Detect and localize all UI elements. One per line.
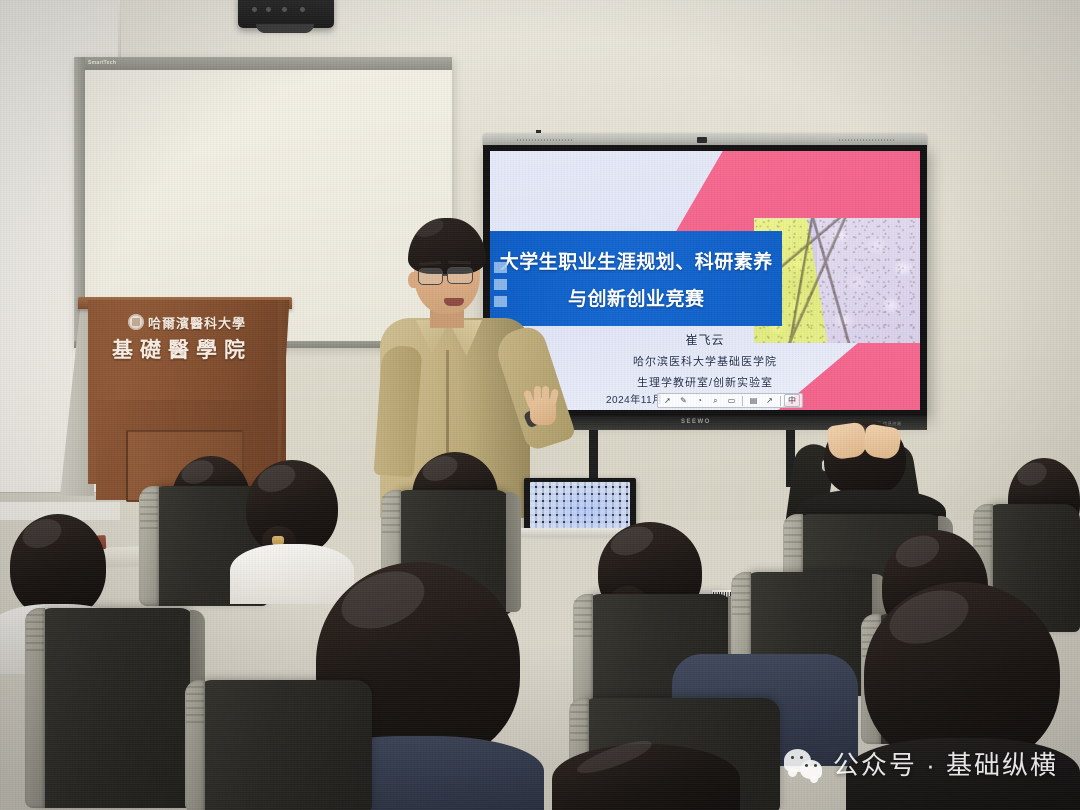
search-icon[interactable]: ⌕ bbox=[708, 394, 723, 407]
ceiling-mounted-device bbox=[238, 0, 334, 28]
whiteboard-frame-top bbox=[74, 57, 452, 70]
eyeglasses-bridge bbox=[442, 274, 448, 276]
slide-date: 2024年11月 bbox=[606, 391, 663, 406]
audience-shoulders bbox=[230, 544, 354, 604]
watermark-text: 公众号 · 基础纵横 bbox=[833, 745, 1058, 782]
seat bbox=[196, 680, 372, 810]
presenter-mouth bbox=[444, 298, 464, 306]
eyeglasses-lens-right bbox=[447, 267, 473, 284]
slide-annotation-toolbar[interactable]: ➚ ✎ ◔ ⌕ ▭ ▤ ↗ 中 bbox=[657, 393, 803, 408]
eyeglasses-lens-left bbox=[418, 268, 443, 285]
display-camera-icon bbox=[697, 137, 707, 143]
seat bbox=[36, 608, 196, 808]
slide-presenter-name: 崔飞云 bbox=[685, 331, 724, 348]
grid-icon[interactable]: ▤ bbox=[746, 394, 761, 407]
toolbar-divider-2 bbox=[780, 396, 781, 406]
audience-head bbox=[552, 744, 740, 810]
shape-icon[interactable]: ▭ bbox=[724, 394, 739, 407]
university-crest-icon bbox=[128, 314, 144, 330]
wechat-icon bbox=[784, 749, 822, 779]
audience-head bbox=[10, 514, 106, 618]
pen-icon[interactable]: ✎ bbox=[676, 394, 691, 407]
podium-college-name: 基礎醫學院 bbox=[112, 334, 252, 364]
slide-affiliation: 哈尔滨医科大学基础医学院 bbox=[633, 353, 777, 369]
toolbar-divider bbox=[742, 396, 743, 406]
lecture-hall-photo: SmartTech 哈爾濱醫科大學 基礎醫學院 bbox=[0, 0, 1080, 810]
whiteboard-brand-label: SmartTech bbox=[88, 60, 116, 66]
slide-department: 生理学教研室/创新实验室 bbox=[637, 374, 773, 390]
display-speaker-left bbox=[517, 139, 573, 141]
presenter-ear bbox=[408, 272, 418, 288]
watermark: 公众号 · 基础纵横 bbox=[784, 745, 1058, 782]
podium-university-name: 哈爾濱醫科大學 bbox=[148, 313, 246, 332]
display-speaker-right bbox=[839, 139, 895, 141]
eraser-icon[interactable]: ◔ bbox=[692, 394, 707, 407]
slide-title-line-2: 与创新创业竞赛 bbox=[568, 284, 705, 311]
podium-university-line: 哈爾濱醫科大學 bbox=[128, 314, 258, 330]
cursor-icon[interactable]: ➚ bbox=[660, 394, 675, 407]
app-icon[interactable]: 中 bbox=[784, 394, 800, 407]
share-icon[interactable]: ↗ bbox=[762, 394, 777, 407]
